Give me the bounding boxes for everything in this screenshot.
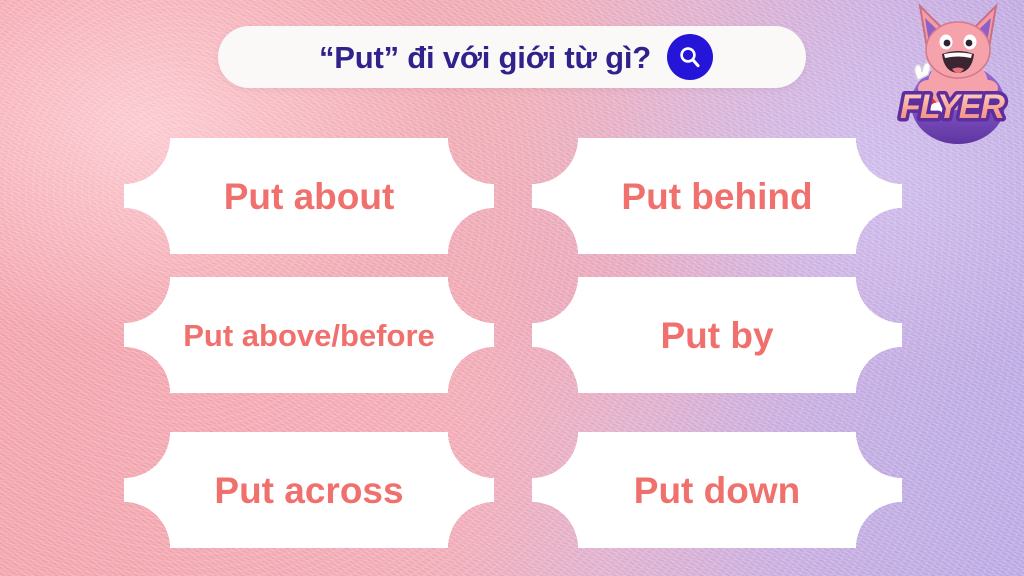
answer-card-1[interactable]: Put about — [124, 138, 494, 254]
answer-label: Put by — [660, 317, 773, 354]
answer-label: Put about — [224, 178, 395, 215]
answer-label: Put across — [214, 472, 403, 509]
answer-card-6[interactable]: Put down — [532, 432, 902, 548]
flyer-logo: FLYER FLYER — [892, 0, 1022, 146]
answer-card-3[interactable]: Put above/before — [124, 277, 494, 393]
answer-label: Put above/before — [183, 320, 435, 351]
search-button[interactable] — [667, 34, 713, 80]
question-text: “Put” đi với giới từ gì? — [319, 42, 651, 73]
answer-card-5[interactable]: Put across — [124, 432, 494, 548]
answer-label: Put behind — [621, 178, 812, 215]
answer-card-4[interactable]: Put by — [532, 277, 902, 393]
quiz-slide: “Put” đi với giới từ gì? — [0, 0, 1024, 576]
question-search-bar[interactable]: “Put” đi với giới từ gì? — [218, 26, 806, 88]
answer-card-2[interactable]: Put behind — [532, 138, 902, 254]
answer-label: Put down — [634, 472, 800, 509]
search-icon — [677, 44, 703, 70]
svg-text:FLYER: FLYER — [900, 88, 1005, 126]
